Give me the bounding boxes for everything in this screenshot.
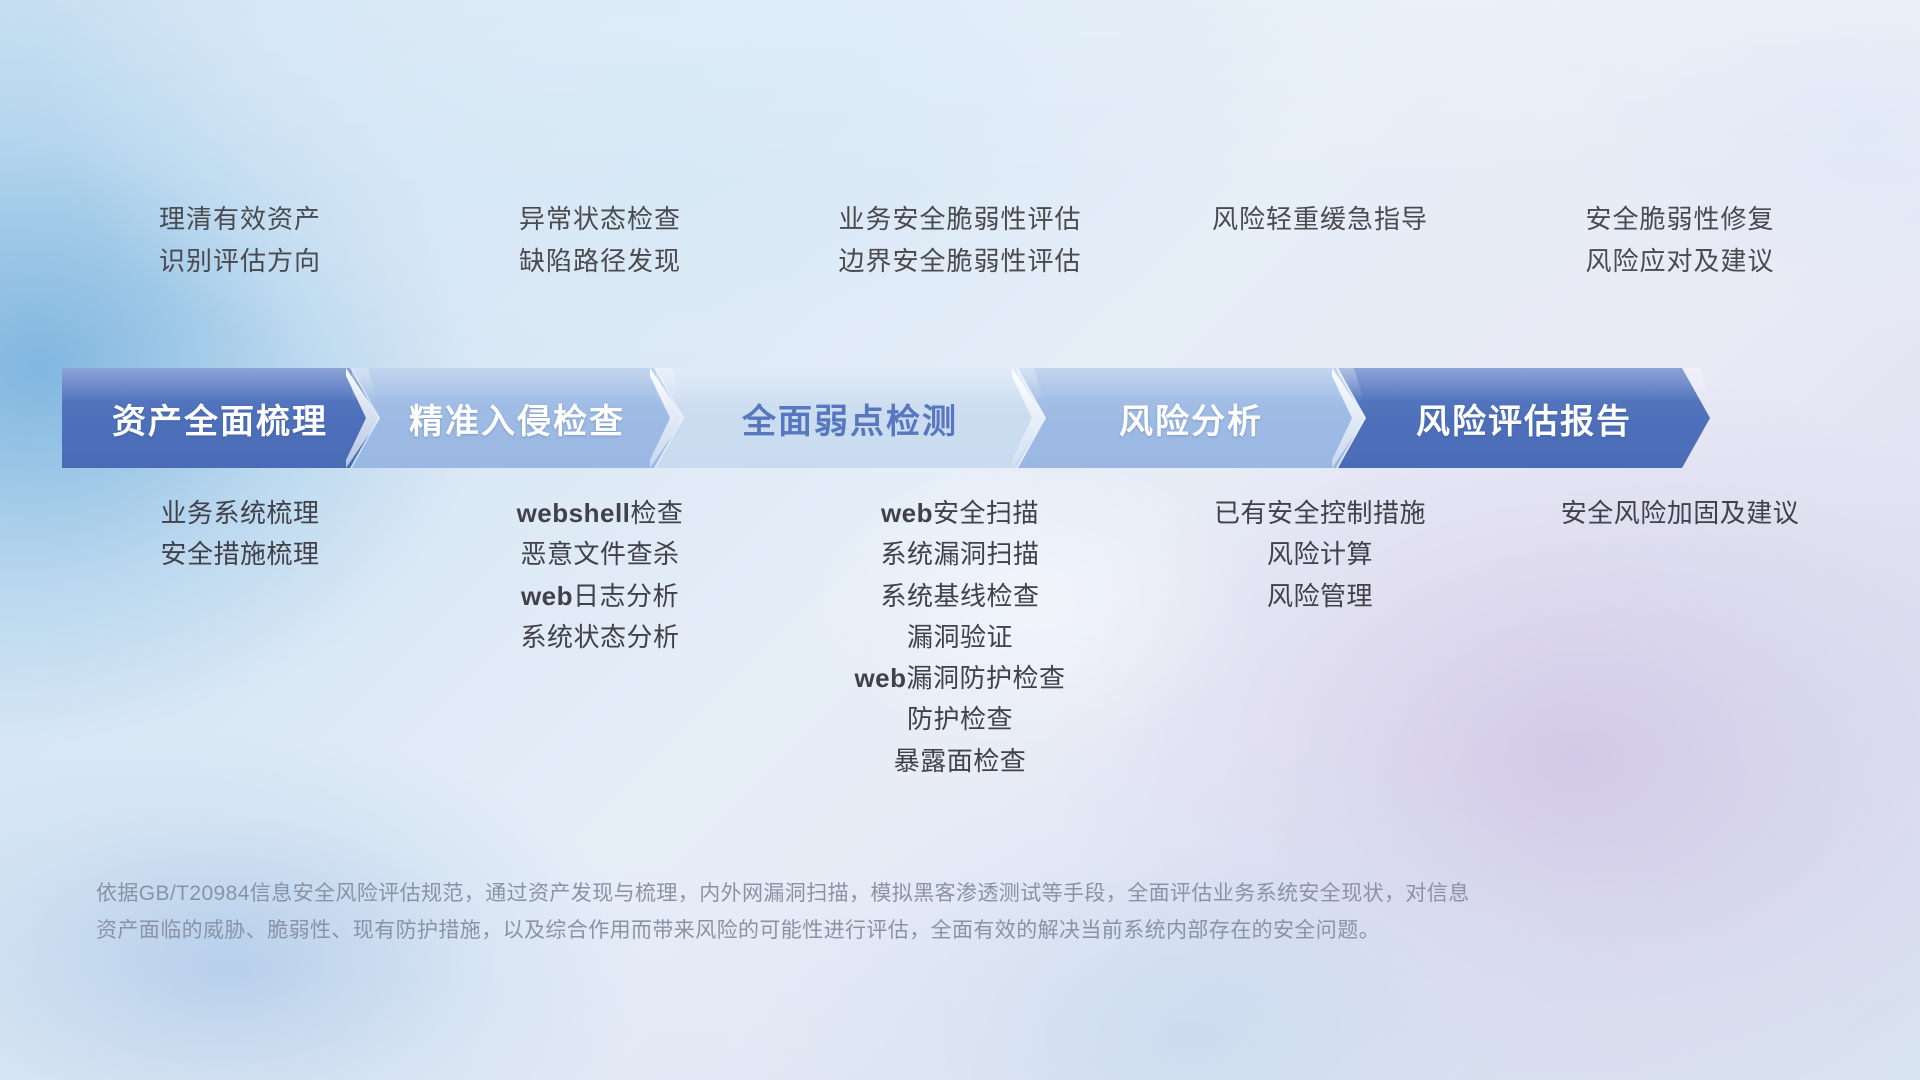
list-item: 安全风险加固及建议: [1561, 500, 1800, 527]
top-caption: 风险轻重缓急指导: [1212, 206, 1428, 232]
stage-details-assessment-report: 安全风险加固及建议: [1500, 500, 1860, 860]
process-banner: 资产全面梳理 精准入侵检查 全面弱点检测 风险分析 风险评估报告: [62, 368, 1862, 468]
stage-details-row: 业务系统梳理 安全措施梳理 webshell检查 恶意文件查杀 web日志分析 …: [60, 500, 1860, 860]
top-captions-intrusion-check: 异常状态检查 缺陷路径发现: [420, 206, 780, 336]
list-item: 业务系统梳理: [160, 500, 319, 527]
list-item: 安全措施梳理: [160, 541, 319, 568]
process-stage-weakness-detection[interactable]: 全面弱点检测: [656, 368, 1044, 468]
process-stage-label: 资产全面梳理: [112, 394, 328, 443]
list-item: 风险管理: [1267, 583, 1373, 610]
list-item: webshell检查: [517, 500, 684, 527]
top-caption: 缺陷路径发现: [519, 248, 681, 274]
top-captions-asset-inventory: 理清有效资产 识别评估方向: [60, 206, 420, 336]
list-item: 漏洞验证: [907, 624, 1013, 651]
list-item: 风险计算: [1267, 541, 1373, 568]
process-stage-label: 精准入侵检查: [409, 394, 625, 443]
top-caption: 安全脆弱性修复: [1585, 206, 1774, 232]
top-captions-risk-analysis: 风险轻重缓急指导: [1140, 206, 1500, 336]
list-item: 暴露面检查: [894, 748, 1027, 775]
list-item: 系统基线检查: [880, 583, 1039, 610]
list-item: 恶意文件查杀: [520, 541, 679, 568]
top-caption: 理清有效资产: [159, 206, 321, 232]
top-caption: 边界安全脆弱性评估: [838, 248, 1081, 274]
top-caption: 识别评估方向: [159, 248, 321, 274]
list-item: 系统状态分析: [520, 624, 679, 651]
top-caption: 业务安全脆弱性评估: [838, 206, 1081, 232]
top-captions-assessment-report: 安全脆弱性修复 风险应对及建议: [1500, 206, 1860, 336]
stage-details-weakness-detection: web安全扫描 系统漏洞扫描 系统基线检查 漏洞验证 web漏洞防护检查 防护检…: [780, 500, 1140, 860]
process-stage-risk-analysis[interactable]: 风险分析: [1018, 368, 1364, 468]
footer-line: 资产面临的威胁、脆弱性、现有防护措施，以及综合作用而带来风险的可能性进行评估，全…: [96, 913, 1636, 950]
top-caption: 风险应对及建议: [1585, 248, 1774, 274]
list-item: 防护检查: [907, 706, 1013, 733]
stage-details-risk-analysis: 已有安全控制措施 风险计算 风险管理: [1140, 500, 1500, 860]
stage-details-asset-inventory: 业务系统梳理 安全措施梳理: [60, 500, 420, 860]
list-item: web日志分析: [521, 583, 679, 610]
process-stage-intrusion-check[interactable]: 精准入侵检查: [352, 368, 682, 468]
top-caption: 异常状态检查: [519, 206, 681, 232]
slide-canvas: 理清有效资产 识别评估方向 异常状态检查 缺陷路径发现 业务安全脆弱性评估 边界…: [0, 0, 1920, 1080]
top-captions-weakness-detection: 业务安全脆弱性评估 边界安全脆弱性评估: [780, 206, 1140, 336]
list-item: 已有安全控制措施: [1214, 500, 1426, 527]
list-item: web安全扫描: [881, 500, 1039, 527]
process-stage-asset-inventory[interactable]: 资产全面梳理: [62, 368, 378, 468]
process-stage-label: 全面弱点检测: [742, 394, 958, 443]
footer-description: 依据GB/T20984信息安全风险评估规范，通过资产发现与梳理，内外网漏洞扫描，…: [96, 876, 1636, 950]
process-stage-label: 风险分析: [1119, 394, 1263, 443]
stage-details-intrusion-check: webshell检查 恶意文件查杀 web日志分析 系统状态分析: [420, 500, 780, 860]
list-item: 系统漏洞扫描: [880, 541, 1039, 568]
process-stage-label: 风险评估报告: [1416, 394, 1632, 443]
process-stage-assessment-report[interactable]: 风险评估报告: [1338, 368, 1710, 468]
list-item: web漏洞防护检查: [854, 665, 1065, 692]
footer-line: 依据GB/T20984信息安全风险评估规范，通过资产发现与梳理，内外网漏洞扫描，…: [96, 876, 1636, 913]
top-captions-row: 理清有效资产 识别评估方向 异常状态检查 缺陷路径发现 业务安全脆弱性评估 边界…: [60, 206, 1860, 336]
